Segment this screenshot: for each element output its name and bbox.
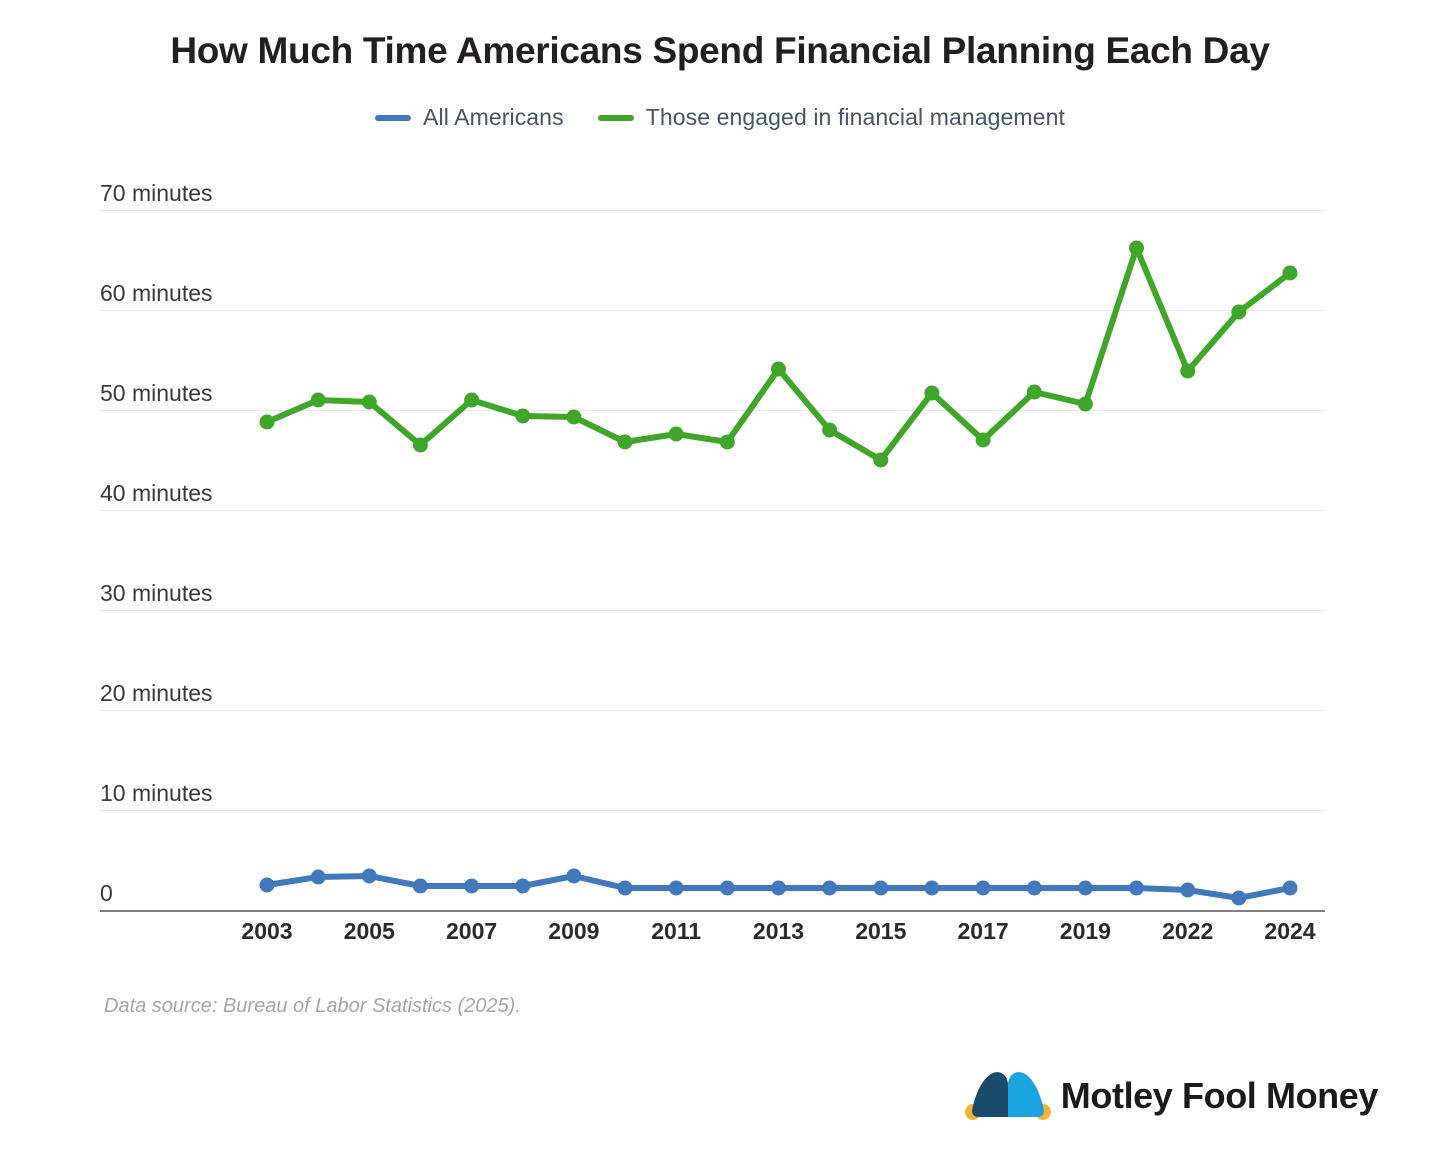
source-note: Data source: Bureau of Labor Statistics … <box>104 995 521 1018</box>
logo-wordmark: Motley Fool Money <box>1061 1075 1378 1117</box>
x-tick-label-2011: 2011 <box>651 918 701 945</box>
data-point-2006 <box>413 438 428 453</box>
data-point-2006 <box>413 879 428 894</box>
data-point-2007 <box>464 879 479 894</box>
data-point-2022 <box>1180 364 1195 379</box>
data-point-2009 <box>566 869 581 884</box>
data-point-2024 <box>1283 266 1298 281</box>
data-point-2004 <box>311 393 326 408</box>
data-point-2003 <box>260 415 275 430</box>
data-point-2018 <box>1027 881 1042 896</box>
data-point-2014 <box>822 423 837 438</box>
x-tick-label-2007: 2007 <box>446 918 497 945</box>
data-point-2007 <box>464 393 479 408</box>
jester-hat-icon <box>965 1068 1051 1124</box>
data-point-2017 <box>976 433 991 448</box>
x-tick-label-2015: 2015 <box>855 918 906 945</box>
data-point-2015 <box>873 881 888 896</box>
data-point-2019 <box>1078 881 1093 896</box>
data-point-2015 <box>873 453 888 468</box>
legend-item-financial-management: Those engaged in financial management <box>598 104 1065 131</box>
data-point-2010 <box>618 881 633 896</box>
data-point-2011 <box>669 881 684 896</box>
series-line <box>267 248 1290 460</box>
legend-label-financial-management: Those engaged in financial management <box>646 104 1065 131</box>
line-chart-svg <box>100 180 1325 912</box>
series-financial-management <box>260 241 1298 468</box>
data-point-2012 <box>720 881 735 896</box>
x-tick-label-2005: 2005 <box>344 918 395 945</box>
data-point-2017 <box>976 881 991 896</box>
motley-fool-money-logo: Motley Fool Money <box>965 1068 1378 1124</box>
data-point-2021 <box>1129 881 1144 896</box>
data-point-2005 <box>362 869 377 884</box>
data-point-2009 <box>566 410 581 425</box>
data-point-2022 <box>1180 883 1195 898</box>
data-point-2021 <box>1129 241 1144 256</box>
data-point-2016 <box>924 881 939 896</box>
data-point-2008 <box>515 409 530 424</box>
data-point-2014 <box>822 881 837 896</box>
data-point-2010 <box>618 435 633 450</box>
legend-item-all-americans: All Americans <box>375 104 564 131</box>
data-point-2016 <box>924 386 939 401</box>
data-point-2023 <box>1231 305 1246 320</box>
data-point-2013 <box>771 881 786 896</box>
x-tick-label-2017: 2017 <box>958 918 1009 945</box>
x-tick-label-2003: 2003 <box>241 918 292 945</box>
x-tick-label-2009: 2009 <box>548 918 599 945</box>
x-tick-label-2022: 2022 <box>1162 918 1213 945</box>
x-tick-label-2024: 2024 <box>1264 918 1315 945</box>
data-point-2012 <box>720 435 735 450</box>
x-axis-tick-labels: 2003200520072009201120132015201720192022… <box>100 918 1325 958</box>
data-point-2005 <box>362 395 377 410</box>
x-tick-label-2013: 2013 <box>753 918 804 945</box>
legend-color-swatch-green <box>598 115 634 121</box>
plot-area: 010 minutes20 minutes30 minutes40 minute… <box>100 180 1325 912</box>
series-all-americans <box>260 869 1298 906</box>
data-point-2024 <box>1283 881 1298 896</box>
data-point-2019 <box>1078 397 1093 412</box>
page-title: How Much Time Americans Spend Financial … <box>0 30 1440 72</box>
chart-page: How Much Time Americans Spend Financial … <box>0 0 1440 1162</box>
chart-legend: All Americans Those engaged in financial… <box>0 104 1440 131</box>
data-point-2013 <box>771 362 786 377</box>
data-point-2004 <box>311 870 326 885</box>
data-point-2003 <box>260 878 275 893</box>
data-point-2008 <box>515 879 530 894</box>
data-point-2023 <box>1231 891 1246 906</box>
legend-color-swatch-blue <box>375 115 411 121</box>
x-tick-label-2019: 2019 <box>1060 918 1111 945</box>
legend-label-all-americans: All Americans <box>423 104 564 131</box>
data-point-2018 <box>1027 385 1042 400</box>
data-point-2011 <box>669 427 684 442</box>
